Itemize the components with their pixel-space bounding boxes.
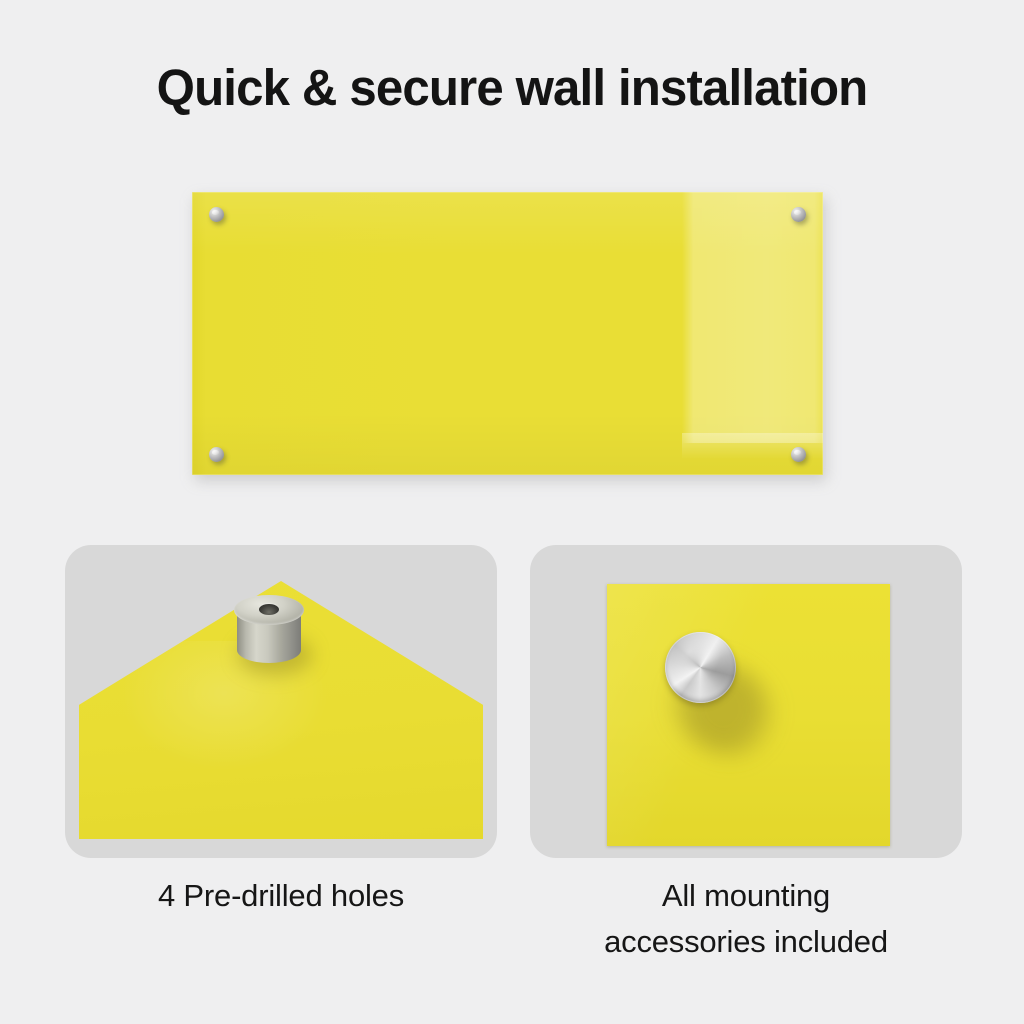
mounting-stud-top-left	[209, 207, 224, 222]
page-title: Quick & secure wall installation	[18, 58, 1006, 117]
mounting-stud-bottom-right	[791, 447, 806, 462]
mounting-stud-top-right	[791, 207, 806, 222]
standoff-screw-hole	[259, 604, 279, 615]
infographic-canvas: Quick & secure wall installation 4 Pre-d…	[0, 0, 1024, 1024]
feature-card-pre-drilled-holes	[65, 545, 497, 858]
standoff-top-face	[234, 595, 304, 625]
mounting-stud-bottom-left	[209, 447, 224, 462]
caption-line-1: All mounting	[520, 873, 972, 919]
standoff-cylinder-icon	[234, 595, 304, 669]
board-edge-highlight	[192, 192, 823, 475]
hero-board-figure	[192, 192, 823, 475]
feature-caption-mounting-accessories: All mounting accessories included	[520, 873, 972, 965]
feature-caption-pre-drilled-holes: 4 Pre-drilled holes	[65, 873, 497, 919]
round-cap-screw-icon	[665, 632, 736, 703]
yellow-glass-board	[192, 192, 823, 475]
caption-line-2: accessories included	[520, 919, 972, 965]
cap-highlight	[665, 632, 736, 703]
